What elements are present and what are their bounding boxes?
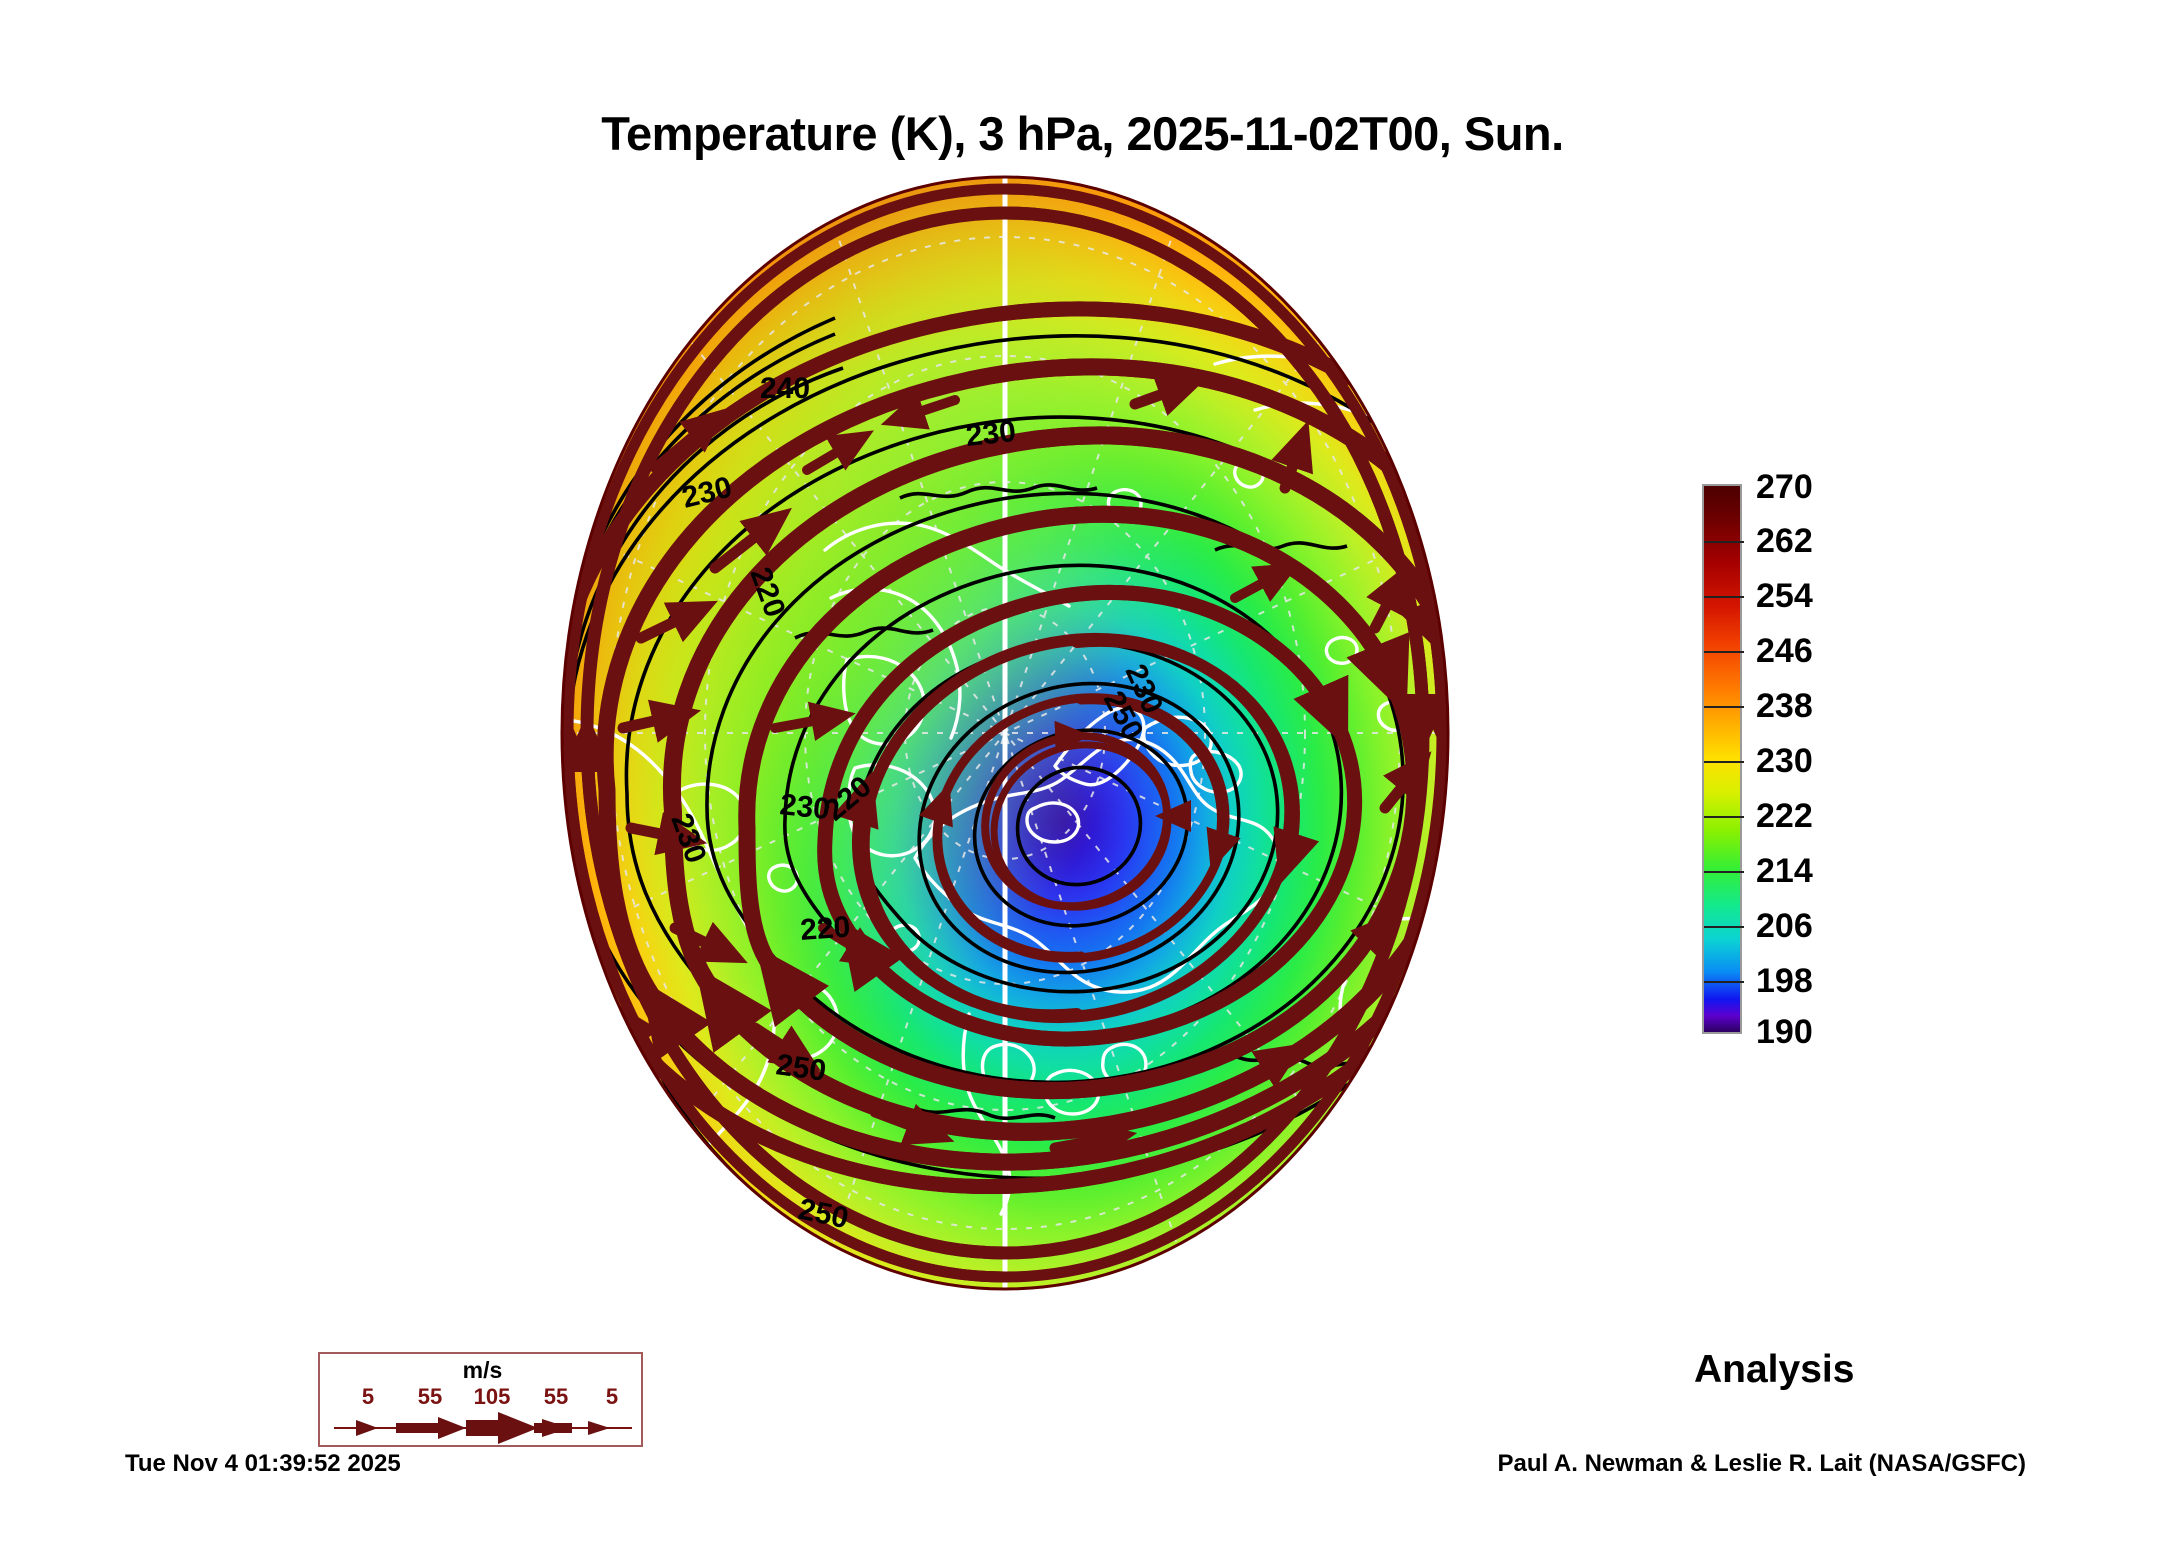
wind-key-units: m/s	[320, 1357, 645, 1384]
svg-text:250: 250	[774, 1048, 828, 1088]
page-title: Temperature (K), 3 hPa, 2025-11-02T00, S…	[0, 106, 2165, 161]
colorbar-label-254: 254	[1756, 579, 1813, 613]
colorbar-label-230: 230	[1756, 744, 1813, 778]
colorbar-label-222: 222	[1756, 799, 1813, 833]
svg-text:240: 240	[448, 483, 491, 539]
colorbar-label-190: 190	[1756, 1015, 1813, 1049]
generation-timestamp: Tue Nov 4 01:39:52 2025	[125, 1450, 401, 1478]
svg-text:250: 250	[467, 783, 519, 842]
wind-speed-key: m/s 5 55 105 55 5	[318, 1352, 643, 1447]
wind-key-label-5: 5	[606, 1384, 618, 1410]
analysis-label: Analysis	[1694, 1348, 1854, 1392]
colorbar-label-262: 262	[1756, 524, 1813, 558]
svg-text:250: 250	[489, 846, 542, 906]
map-svg: 250 250 240 230 240 230 220 220 230 230 …	[355, 168, 1655, 1298]
colorbar-label-270: 270	[1756, 470, 1813, 504]
svg-text:250: 250	[716, 214, 775, 265]
wind-key-labels: 5 55 105 55 5	[320, 1384, 645, 1410]
svg-text:250: 250	[679, 168, 736, 197]
wind-key-arrow-scale	[320, 1412, 645, 1444]
colorbar-label-246: 246	[1756, 634, 1813, 668]
svg-text:250: 250	[521, 975, 576, 1035]
colorbar-gradient	[1702, 484, 1742, 1034]
colorbar: 270 262 254 246 238 230 222 214 206 198 …	[1702, 484, 2022, 1040]
wind-key-label-2: 55	[418, 1384, 442, 1410]
wind-key-label-4: 55	[544, 1384, 568, 1410]
polar-map[interactable]: 250 250 240 230 240 230 220 220 230 230 …	[355, 168, 1655, 1298]
svg-text:240: 240	[760, 372, 810, 405]
wind-key-label-3: 105	[474, 1384, 511, 1410]
wind-key-label-1: 5	[362, 1384, 374, 1410]
svg-text:250: 250	[441, 739, 492, 798]
svg-text:220: 220	[799, 911, 851, 947]
map-disc: 250 250 240 230 240 230 220 220 230 230 …	[355, 168, 1655, 1298]
svg-text:230: 230	[778, 788, 831, 826]
colorbar-label-214: 214	[1756, 854, 1813, 888]
svg-text:230: 230	[964, 415, 1017, 453]
author-credit: Paul A. Newman & Leslie R. Lait (NASA/GS…	[1497, 1450, 2026, 1478]
colorbar-label-198: 198	[1756, 964, 1813, 998]
colorbar-label-238: 238	[1756, 689, 1813, 723]
svg-text:240: 240	[428, 670, 472, 727]
colorbar-label-206: 206	[1756, 909, 1813, 943]
